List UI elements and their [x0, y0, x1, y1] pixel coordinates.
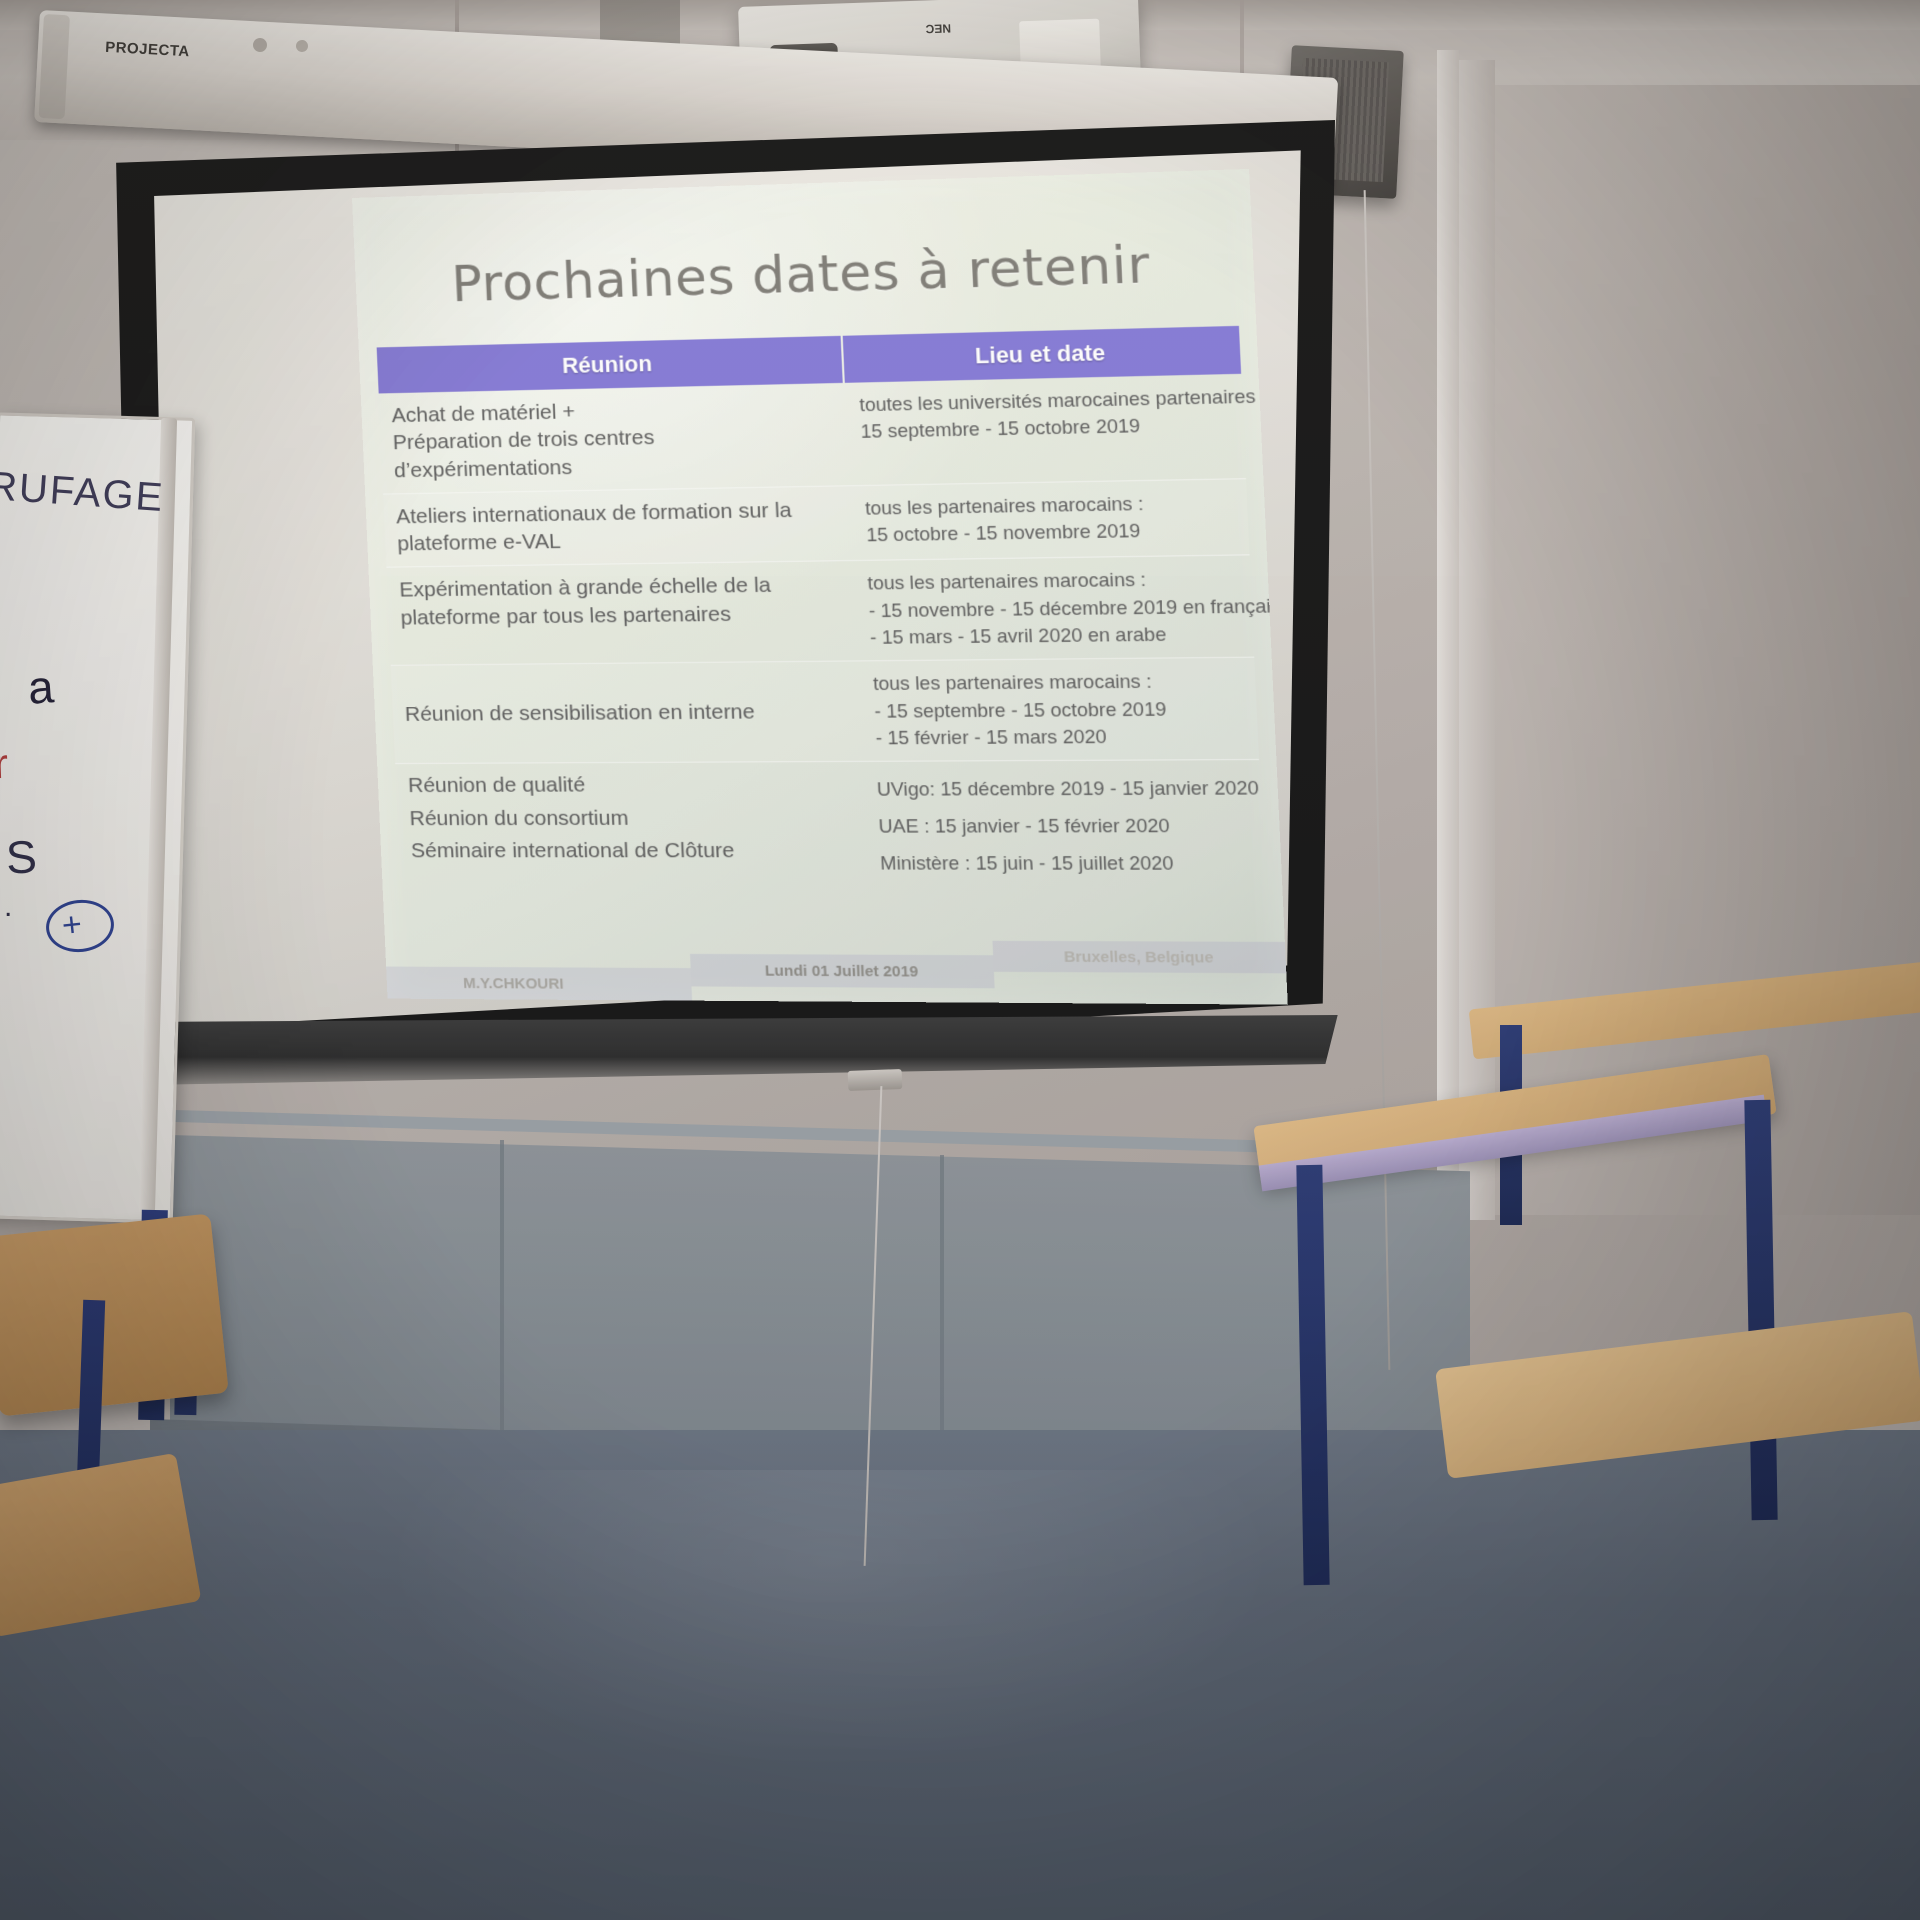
projector-brand-label: NEC — [905, 21, 951, 37]
cell-place-date: tous les partenaires marocains : - 15 se… — [857, 658, 1259, 761]
classroom-photo: NEC PROJECTA Prochaines dates à retenir … — [0, 0, 1920, 1920]
slide-footer: M.Y.CHKOURI Lundi 01 Juillet 2019 Bruxel… — [385, 936, 1288, 1004]
cell-meeting: Expérimentation à grande échelle de la p… — [386, 562, 854, 666]
whiteboard-plus-mark: + — [60, 905, 84, 946]
cell-meeting: Achat de matériel + Préparation de trois… — [379, 383, 847, 494]
table-row: Réunion de sensibilisation en interne to… — [391, 658, 1259, 764]
table-row: Ateliers internationaux de formation sur… — [383, 479, 1249, 568]
dates-table: Réunion Lieu et date Achat de matériel +… — [377, 326, 1266, 892]
cell-place-date: toutes les universités marocaines parten… — [844, 374, 1246, 485]
cell-place-date: tous les partenaires marocains : 15 octo… — [849, 479, 1249, 560]
table-row: Achat de matériel + Préparation de trois… — [379, 374, 1246, 495]
whiteboard-note: a — [26, 659, 55, 715]
table-row: Expérimentation à grande échelle de la p… — [386, 556, 1254, 666]
cell-meeting-group: Réunion de qualité Réunion du consortium… — [395, 762, 865, 891]
screen-pull-handle[interactable] — [848, 1069, 903, 1091]
table-row: Réunion de qualité Réunion du consortium… — [395, 760, 1265, 892]
cell-place-date: tous les partenaires marocains : - 15 no… — [852, 556, 1254, 661]
slide-title: Prochaines dates à retenir — [355, 232, 1255, 316]
cell-place-date: UVigo: 15 décembre 2019 - 15 janvier 202… — [861, 760, 1265, 892]
cell-meeting: Ateliers internationaux de formation sur… — [383, 486, 851, 567]
cell-meeting: Réunion de sensibilisation en interne — [391, 662, 860, 763]
projected-slide: Prochaines dates à retenir Réunion Lieu … — [352, 169, 1288, 1005]
floor-light-reflection — [380, 1470, 1280, 1770]
casing-end-cap — [39, 14, 70, 119]
cabinet-seam — [500, 1140, 504, 1470]
chair-left — [0, 1213, 229, 1416]
footer-location: Bruxelles, Belgique — [992, 941, 1286, 974]
corner-post — [1437, 50, 1459, 1225]
footer-date: Lundi 01 Juillet 2019 — [690, 954, 995, 988]
whiteboard-note: . — [4, 890, 12, 924]
whiteboard-note: S — [5, 829, 38, 885]
footer-author: M.Y.CHKOURI — [386, 967, 692, 1001]
